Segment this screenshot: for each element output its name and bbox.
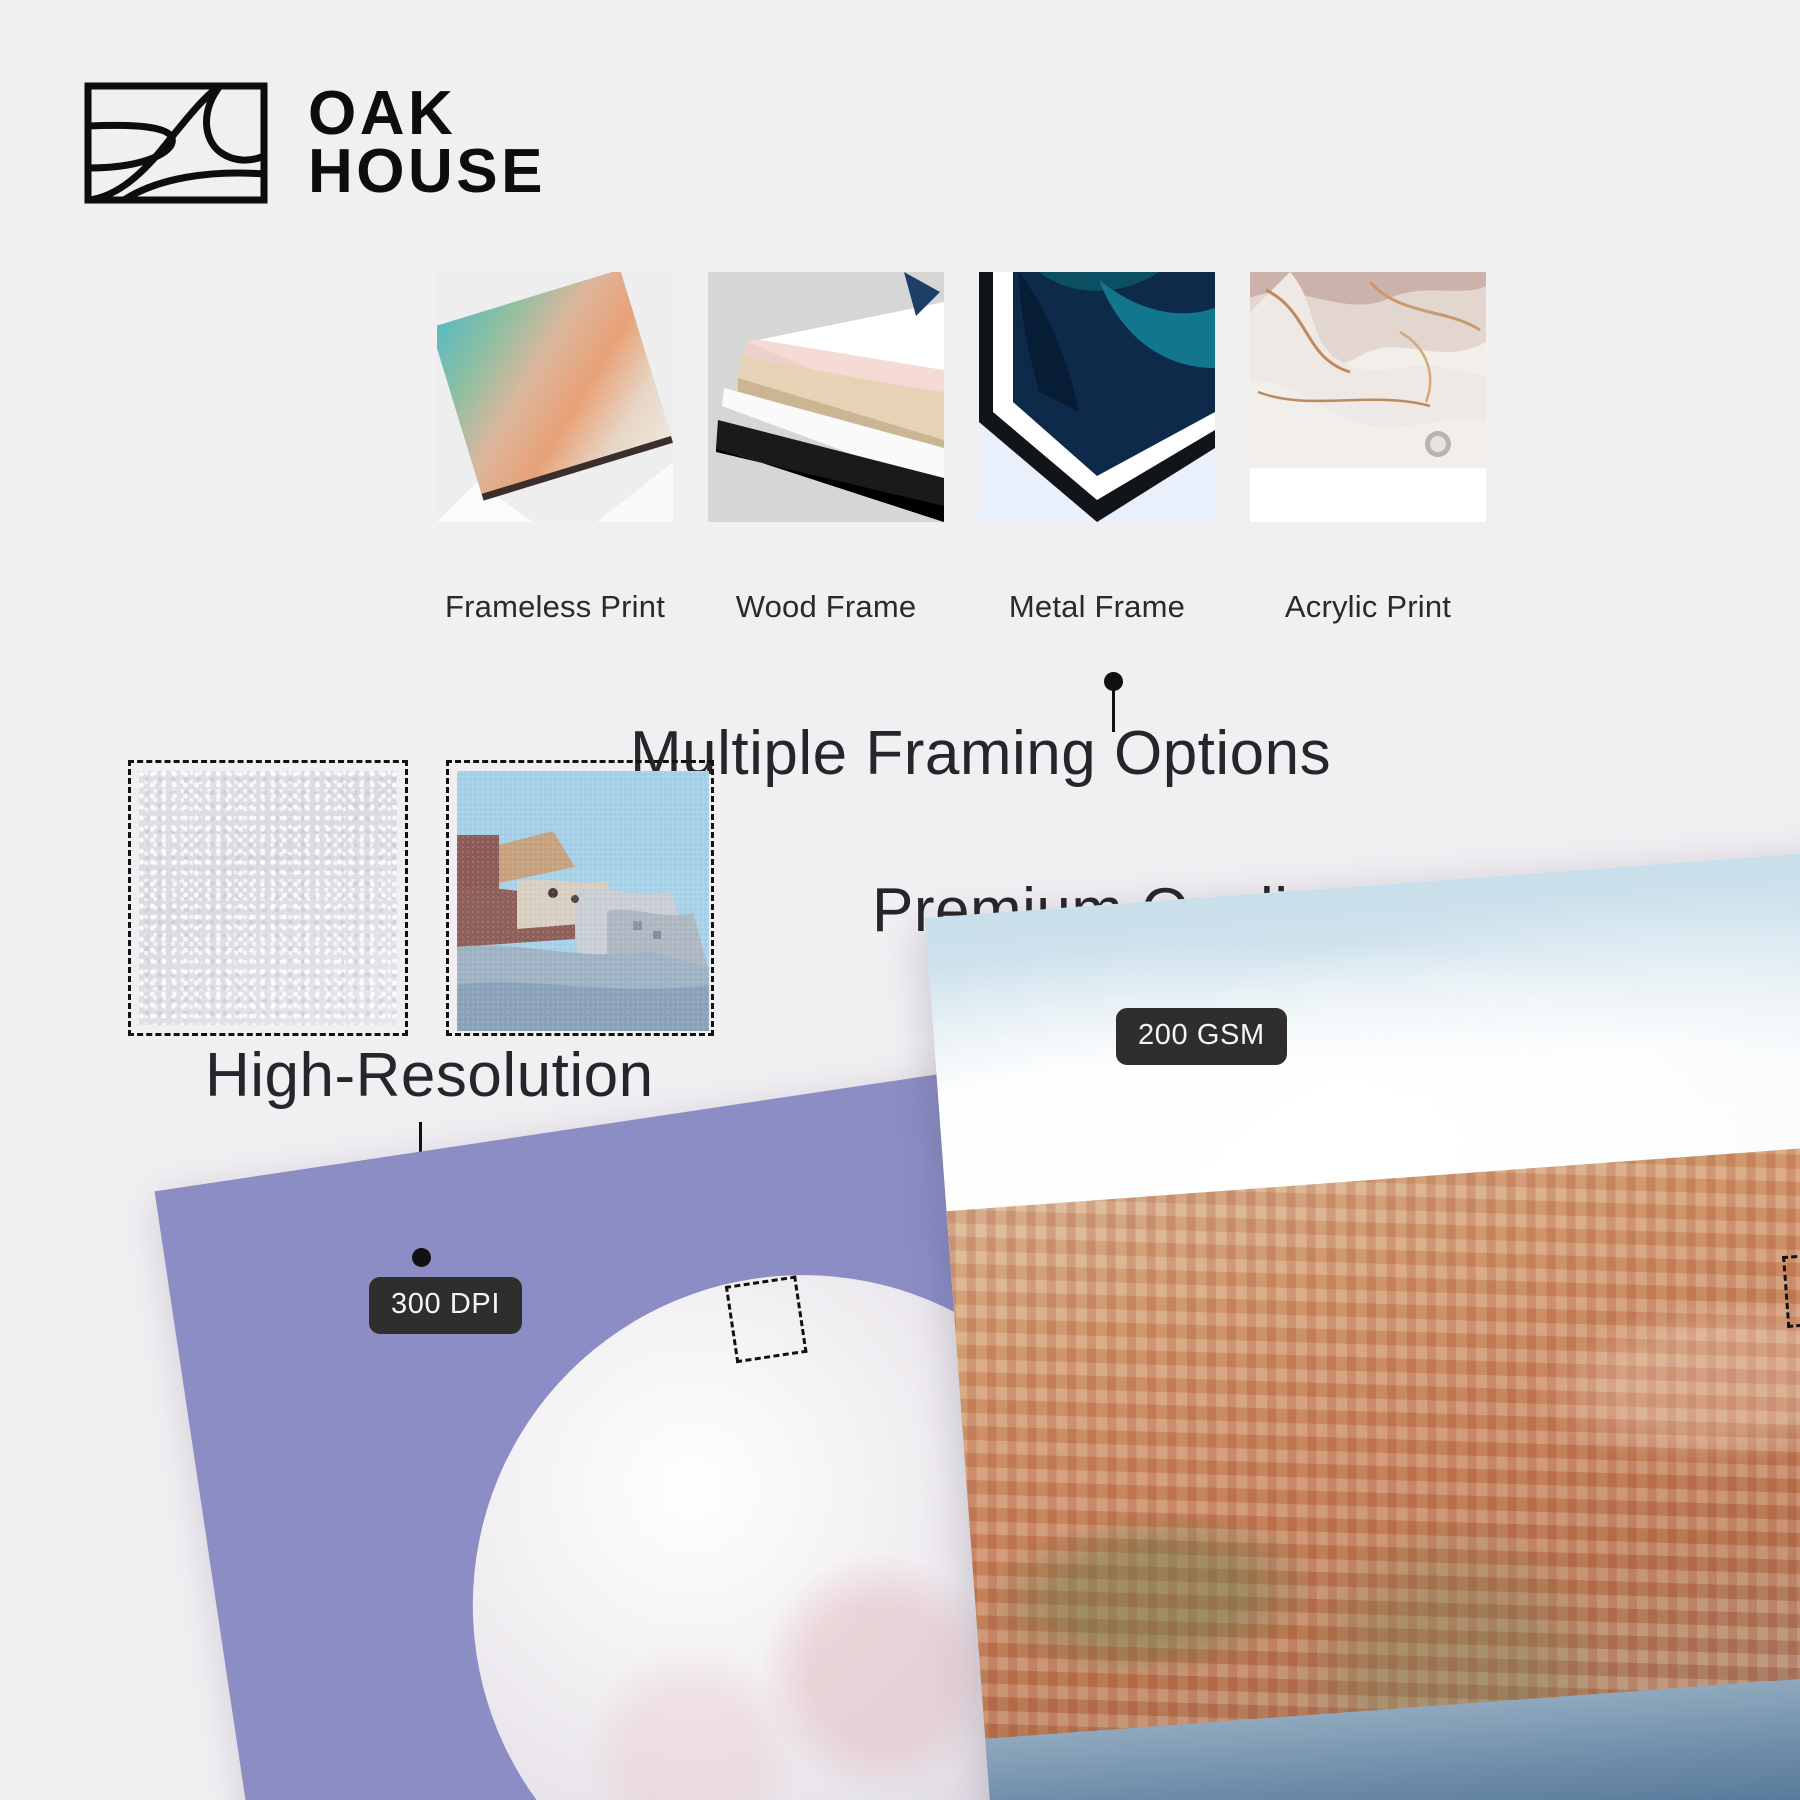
framing-headline: Multiple Framing Options	[630, 718, 1331, 789]
poster-cityscape	[947, 1139, 1800, 1778]
framing-option-frameless[interactable]: Frameless Print	[437, 272, 673, 625]
brand-logo: OAK HOUSE	[84, 82, 546, 204]
framing-options-row: Frameless Print Wood Frame	[437, 272, 1486, 625]
brand-wordmark: OAK HOUSE	[308, 85, 546, 200]
abstract-landscape-square-icon	[84, 82, 268, 204]
high-resolution-headline: High-Resolution	[205, 1040, 654, 1111]
acrylic-print-thumbnail	[1250, 272, 1486, 522]
infographic-canvas: OAK HOUSE	[0, 0, 1800, 1800]
framing-option-wood[interactable]: Wood Frame	[708, 272, 944, 625]
metal-frame-thumbnail	[979, 272, 1215, 522]
gsm-badge: 200 GSM	[1116, 1008, 1287, 1065]
wood-frame-thumbnail	[708, 272, 944, 522]
artwork-detail-swatch	[446, 760, 714, 1036]
paper-texture-fill	[139, 771, 397, 1025]
framing-option-acrylic[interactable]: Acrylic Print	[1250, 272, 1486, 625]
frameless-print-thumbnail	[437, 272, 673, 522]
framing-connector-dot	[1104, 672, 1123, 691]
brand-name-line2: HOUSE	[308, 143, 546, 201]
artwork-detail-fill	[457, 771, 703, 1025]
brand-name-line1: OAK	[308, 85, 546, 143]
paper-texture-swatch	[128, 760, 408, 1036]
framing-option-label: Metal Frame	[979, 589, 1215, 625]
framing-option-label: Acrylic Print	[1250, 589, 1486, 625]
framing-option-label: Frameless Print	[437, 589, 673, 625]
coastal-cityscape-poster	[925, 846, 1800, 1800]
poster-left-crop-marker	[725, 1275, 808, 1363]
framing-option-label: Wood Frame	[708, 589, 944, 625]
dpi-badge: 300 DPI	[369, 1277, 522, 1334]
dpi-connector-dot	[412, 1248, 431, 1267]
framing-option-metal[interactable]: Metal Frame	[979, 272, 1215, 625]
